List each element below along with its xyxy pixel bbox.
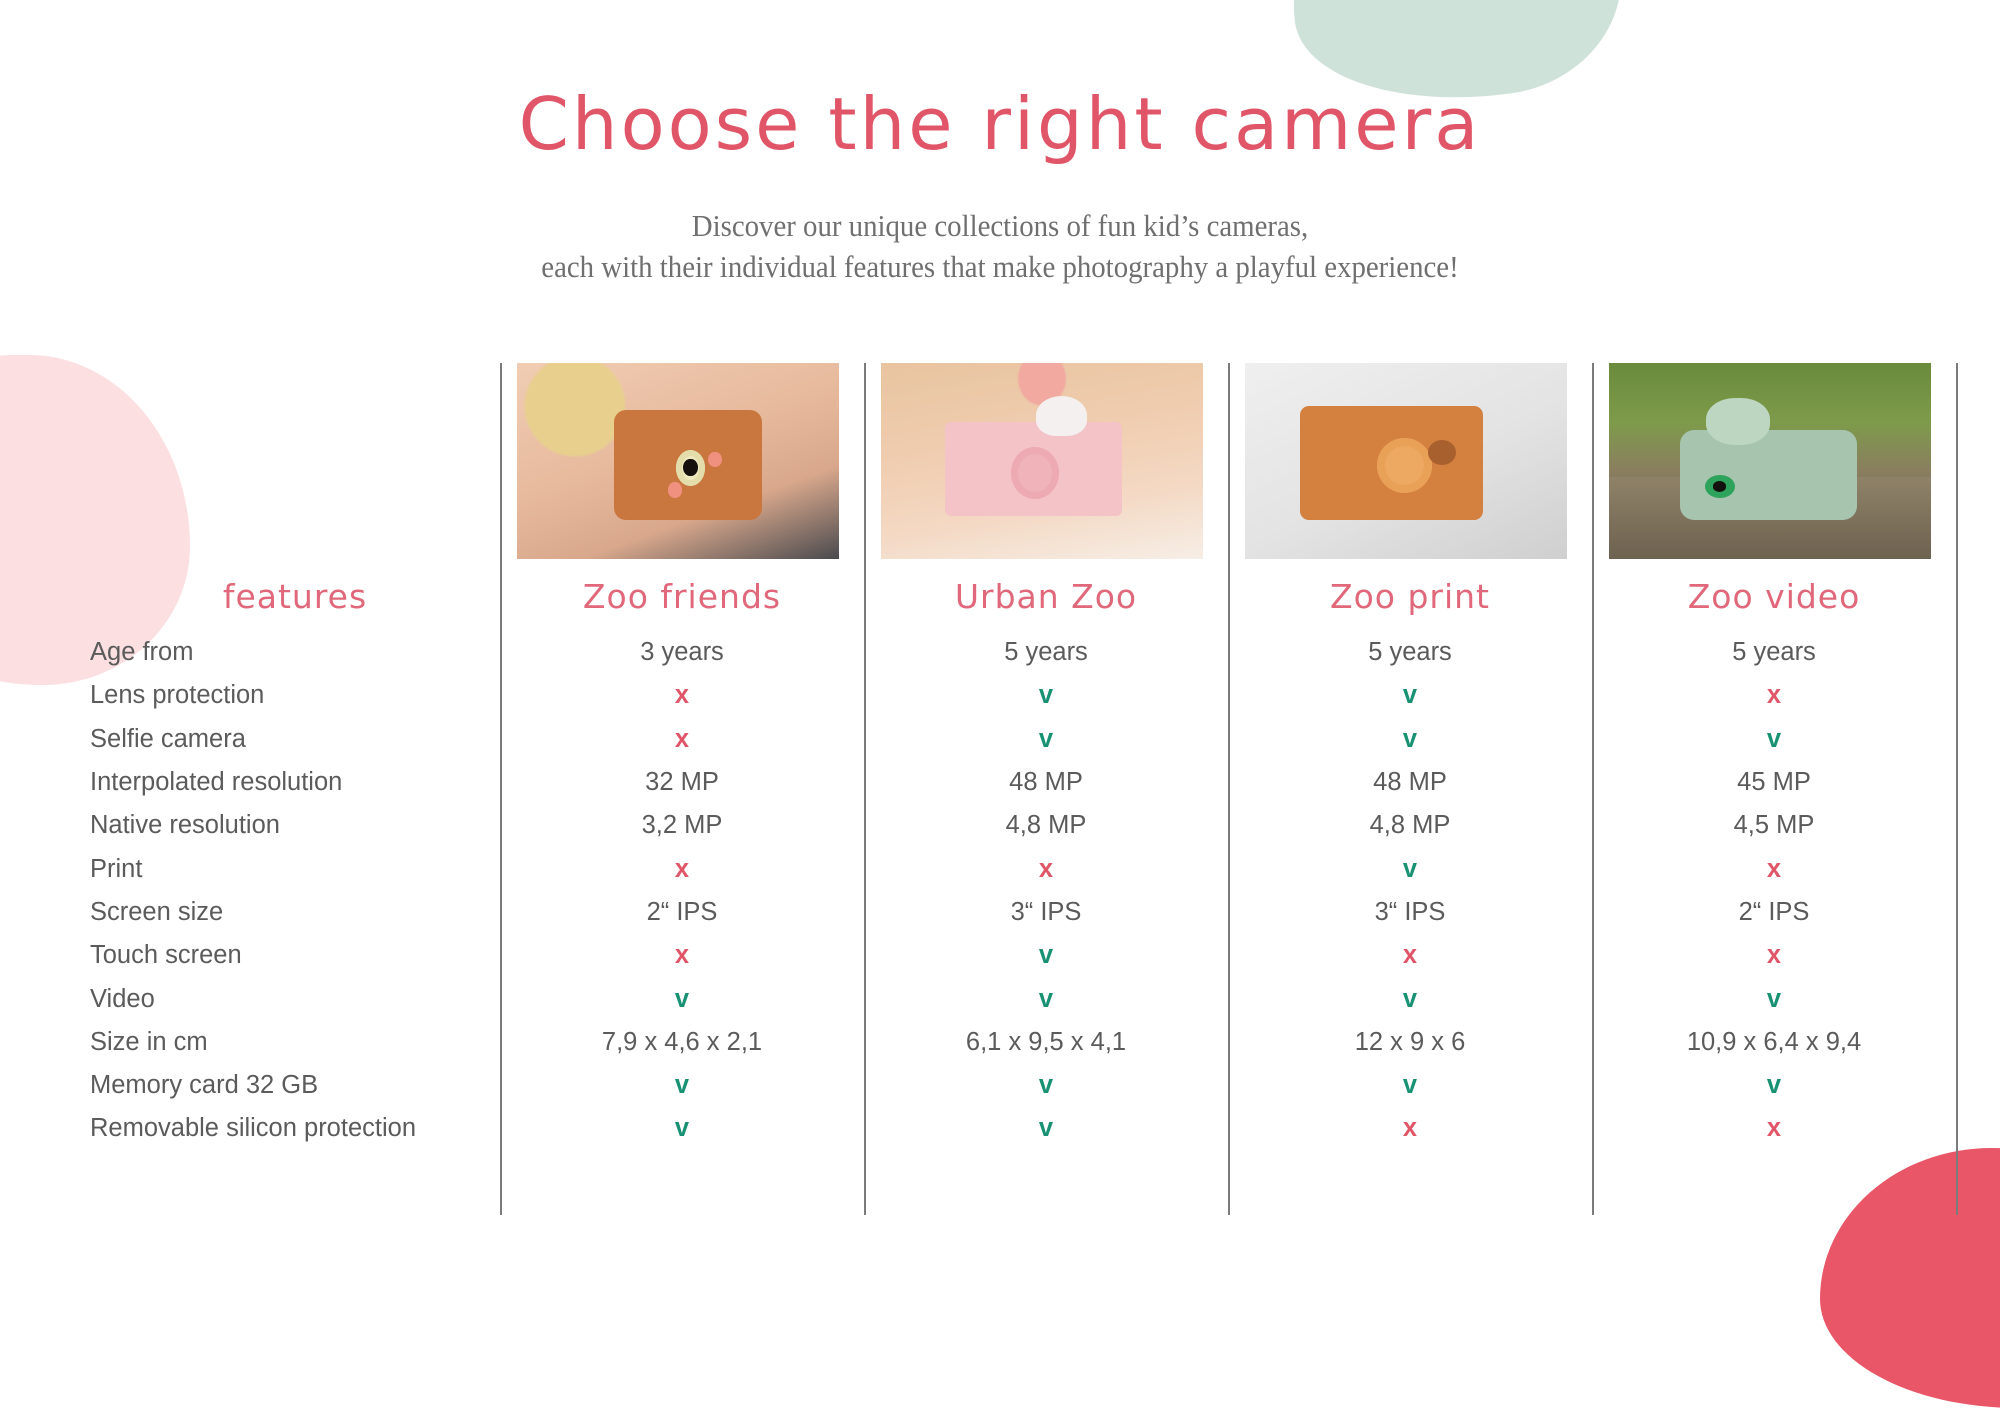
check-icon: v — [1592, 725, 1956, 754]
check-icon: v — [1592, 1071, 1956, 1100]
check-icon: v — [864, 681, 1228, 710]
cross-icon: x — [1228, 1114, 1592, 1143]
table-cell: 32 MP — [500, 768, 864, 797]
table-cell: 4,8 MP — [864, 811, 1228, 840]
check-icon: v — [500, 1071, 864, 1100]
cross-icon: x — [500, 725, 864, 754]
table-row: Native resolution3,2 MP4,8 MP4,8 MP4,5 M… — [90, 804, 1956, 847]
row-label: Lens protection — [90, 681, 500, 710]
check-icon: v — [1228, 1071, 1592, 1100]
check-icon: v — [864, 1071, 1228, 1100]
table-cell: 3,2 MP — [500, 811, 864, 840]
header: Choose the right camera Discover our uni… — [0, 0, 2000, 288]
page-subtitle: Discover our unique collections of fun k… — [70, 160, 1930, 288]
cross-icon: x — [864, 855, 1228, 884]
product-photo-zoo-friends[interactable] — [517, 363, 839, 559]
table-row: Touch screenxvxx — [90, 934, 1956, 977]
column-divider — [1956, 363, 1958, 1215]
table-cell: 5 years — [864, 638, 1228, 667]
check-icon: v — [864, 725, 1228, 754]
pink-unicorn-camera-icon — [945, 422, 1122, 516]
table-cell: 2“ IPS — [1592, 898, 1956, 927]
product-photo-zoo-print[interactable] — [1245, 363, 1567, 559]
product-photo-zoo-video[interactable] — [1609, 363, 1931, 559]
row-label: Touch screen — [90, 941, 500, 970]
check-icon: v — [864, 985, 1228, 1014]
table-cell: 7,9 x 4,6 x 2,1 — [500, 1028, 864, 1057]
cross-icon: x — [1592, 941, 1956, 970]
cross-icon: x — [1228, 941, 1592, 970]
table-row: Removable silicon protectionvvxx — [90, 1107, 1956, 1150]
table-cell: 48 MP — [864, 768, 1228, 797]
features-column-header: features — [90, 577, 500, 616]
row-label: Memory card 32 GB — [90, 1071, 500, 1100]
check-icon: v — [864, 941, 1228, 970]
column-header-zoo-print[interactable]: Zoo print — [1228, 577, 1592, 616]
page-title: Choose the right camera — [0, 0, 2000, 160]
table-cell: 45 MP — [1592, 768, 1956, 797]
table-row: Lens protectionxvvx — [90, 674, 1956, 717]
table-row: Interpolated resolution32 MP48 MP48 MP45… — [90, 761, 1956, 804]
table-cell: 48 MP — [1228, 768, 1592, 797]
table-row: Screen size2“ IPS3“ IPS3“ IPS2“ IPS — [90, 891, 1956, 934]
cross-icon: x — [500, 681, 864, 710]
table-row: Printxxvx — [90, 847, 1956, 890]
cross-icon: x — [1592, 1114, 1956, 1143]
product-photo-urban-zoo[interactable] — [881, 363, 1203, 559]
column-header-zoo-friends[interactable]: Zoo friends — [500, 577, 864, 616]
check-icon: v — [1228, 855, 1592, 884]
row-label: Selfie camera — [90, 725, 500, 754]
check-icon: v — [1228, 681, 1592, 710]
table-cell: 4,5 MP — [1592, 811, 1956, 840]
row-label: Native resolution — [90, 811, 500, 840]
comparison-table: features Zoo friends Urban Zoo Zoo print… — [90, 363, 1945, 1215]
subtitle-line-2: each with their individual features that… — [70, 247, 1930, 288]
check-icon: v — [864, 1114, 1228, 1143]
table-cell: 4,8 MP — [1228, 811, 1592, 840]
column-header-zoo-video[interactable]: Zoo video — [1592, 577, 1956, 616]
column-header-urban-zoo[interactable]: Urban Zoo — [864, 577, 1228, 616]
row-label: Age from — [90, 638, 500, 667]
check-icon: v — [1228, 725, 1592, 754]
table-row: Videovvvv — [90, 977, 1956, 1020]
green-dinosaur-camera-icon — [1680, 430, 1857, 520]
check-icon: v — [1228, 985, 1592, 1014]
cross-icon: x — [1592, 855, 1956, 884]
table-row: Memory card 32 GBvvvv — [90, 1064, 1956, 1107]
check-icon: v — [500, 985, 864, 1014]
cross-icon: x — [1592, 681, 1956, 710]
table-cell: 2“ IPS — [500, 898, 864, 927]
table-cell: 3“ IPS — [864, 898, 1228, 927]
table-cell: 12 x 9 x 6 — [1228, 1028, 1592, 1057]
cross-icon: x — [500, 941, 864, 970]
row-label: Size in cm — [90, 1028, 500, 1057]
table-body: Age from3 years5 years5 years5 yearsLens… — [90, 631, 1956, 1151]
row-label: Interpolated resolution — [90, 768, 500, 797]
table-cell: 6,1 x 9,5 x 4,1 — [864, 1028, 1228, 1057]
table-cell: 3“ IPS — [1228, 898, 1592, 927]
row-label: Print — [90, 855, 500, 884]
check-icon: v — [500, 1114, 864, 1143]
table-cell: 5 years — [1592, 638, 1956, 667]
subtitle-line-1: Discover our unique collections of fun k… — [70, 206, 1930, 247]
table-cell: 5 years — [1228, 638, 1592, 667]
row-label: Removable silicon protection — [90, 1114, 500, 1143]
table-row: Size in cm7,9 x 4,6 x 2,16,1 x 9,5 x 4,1… — [90, 1021, 1956, 1064]
table-row: Selfie cameraxvvv — [90, 718, 1956, 761]
row-label: Screen size — [90, 898, 500, 927]
check-icon: v — [1592, 985, 1956, 1014]
table-cell: 10,9 x 6,4 x 9,4 — [1592, 1028, 1956, 1057]
cross-icon: x — [500, 855, 864, 884]
table-cell: 3 years — [500, 638, 864, 667]
brown-bear-camera-icon — [614, 410, 762, 520]
orange-print-camera-icon — [1300, 406, 1484, 520]
row-label: Video — [90, 985, 500, 1014]
table-row: Age from3 years5 years5 years5 years — [90, 631, 1956, 674]
